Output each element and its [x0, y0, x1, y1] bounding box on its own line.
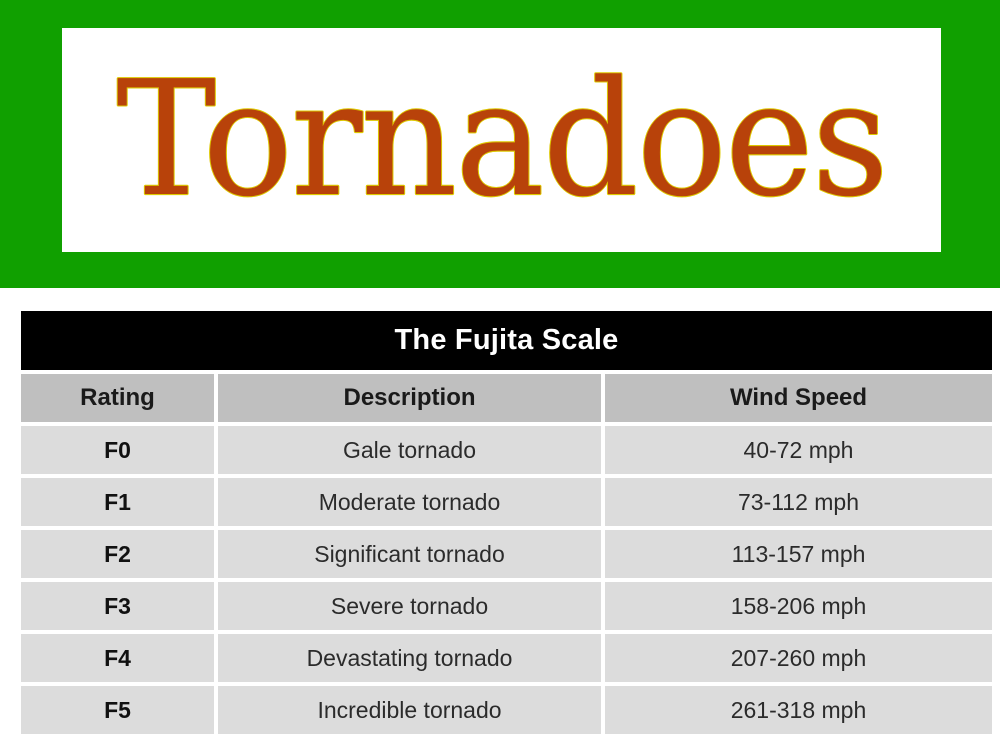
table-row: F2 Significant tornado 113-157 mph: [21, 530, 992, 578]
table-row: F1 Moderate tornado 73-112 mph: [21, 478, 992, 526]
cell-wind-speed: 113-157 mph: [605, 530, 992, 578]
cell-description: Gale tornado: [218, 426, 601, 474]
table-title: The Fujita Scale: [21, 311, 992, 370]
column-header-description: Description: [218, 374, 601, 422]
page-banner: Tornadoes: [0, 0, 1000, 288]
fujita-scale-table-container: The Fujita Scale Rating Description Wind…: [21, 311, 984, 734]
cell-description: Severe tornado: [218, 582, 601, 630]
cell-wind-speed: 207-260 mph: [605, 634, 992, 682]
table-row: F0 Gale tornado 40-72 mph: [21, 426, 992, 474]
cell-description: Incredible tornado: [218, 686, 601, 734]
fujita-scale-table: The Fujita Scale Rating Description Wind…: [17, 307, 996, 738]
table-title-row: The Fujita Scale: [21, 311, 992, 370]
column-header-rating: Rating: [21, 374, 214, 422]
cell-rating: F2: [21, 530, 214, 578]
banner-inner-panel: Tornadoes: [62, 28, 941, 252]
table-row: F4 Devastating tornado 207-260 mph: [21, 634, 992, 682]
cell-rating: F1: [21, 478, 214, 526]
table-head: The Fujita Scale Rating Description Wind…: [21, 311, 992, 422]
table-header-row: Rating Description Wind Speed: [21, 374, 992, 422]
cell-description: Devastating tornado: [218, 634, 601, 682]
table-row: F3 Severe tornado 158-206 mph: [21, 582, 992, 630]
cell-rating: F3: [21, 582, 214, 630]
column-header-wind-speed: Wind Speed: [605, 374, 992, 422]
cell-rating: F4: [21, 634, 214, 682]
cell-description: Moderate tornado: [218, 478, 601, 526]
table-body: F0 Gale tornado 40-72 mph F1 Moderate to…: [21, 426, 992, 734]
page-title: Tornadoes: [116, 61, 887, 220]
cell-rating: F0: [21, 426, 214, 474]
cell-description: Significant tornado: [218, 530, 601, 578]
cell-wind-speed: 261-318 mph: [605, 686, 992, 734]
cell-rating: F5: [21, 686, 214, 734]
cell-wind-speed: 158-206 mph: [605, 582, 992, 630]
cell-wind-speed: 73-112 mph: [605, 478, 992, 526]
table-row: F5 Incredible tornado 261-318 mph: [21, 686, 992, 734]
cell-wind-speed: 40-72 mph: [605, 426, 992, 474]
